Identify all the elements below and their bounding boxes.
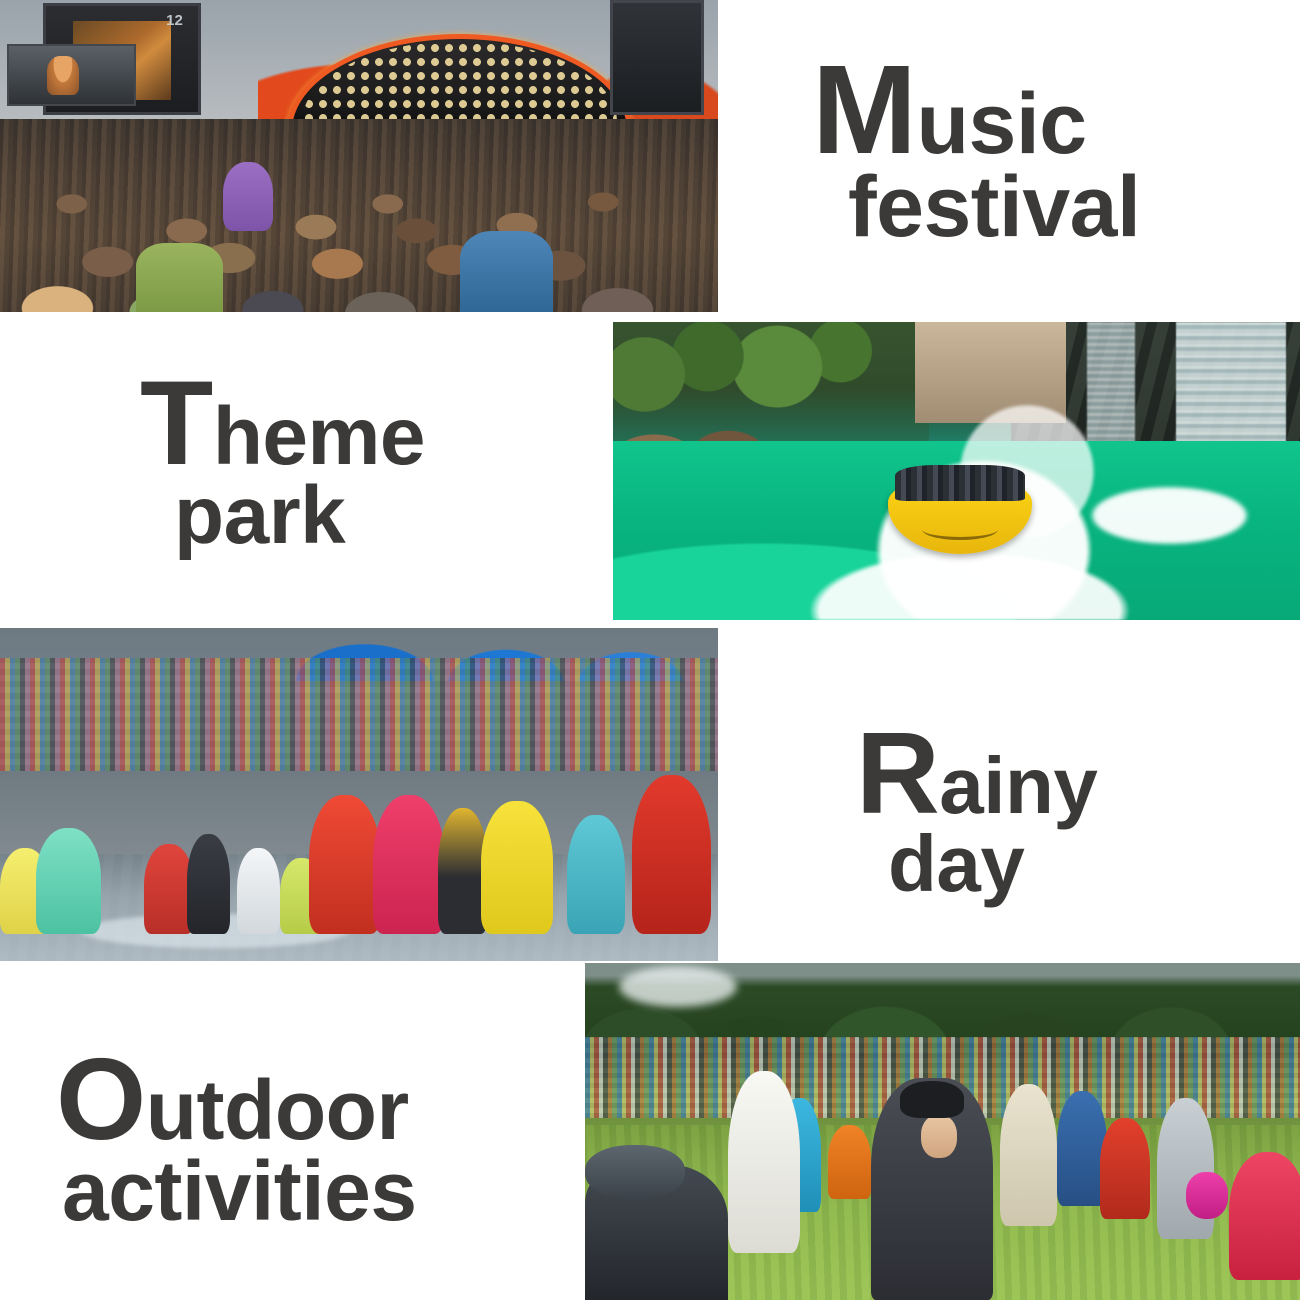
poncho-red-center [309, 795, 381, 935]
caption-line-1: Music [812, 52, 1140, 168]
caption-line-1-rest: ainy [939, 741, 1097, 830]
festival-crowd [0, 119, 718, 312]
image-text-collage: 12 Music festival Theme park [0, 0, 1300, 1300]
outdoor-activities-photo-content [585, 963, 1300, 1300]
poncho-orange-seated [828, 1125, 871, 1199]
music-festival-photo-content: 12 [0, 0, 718, 312]
rainy-day-photo-content [0, 628, 718, 961]
caption-line-1-rest: heme [213, 391, 425, 482]
caption-theme-park: Theme park [140, 368, 425, 554]
person-black-jacket [187, 834, 230, 934]
morning-mist [599, 963, 756, 1010]
caption-line-1-rest: usic [916, 76, 1086, 172]
poncho-teal [567, 815, 624, 935]
poncho-white [728, 1071, 800, 1253]
caption-line-1: Rainy [856, 720, 1097, 827]
caption-line-2: festival [848, 168, 1140, 247]
hiker-cap [900, 1081, 964, 1118]
boat-passengers [895, 465, 1026, 501]
outdoor-activities-photo [585, 963, 1300, 1300]
caption-line-1: Outdoor [56, 1046, 417, 1153]
caption-music-festival: Music festival [812, 52, 1140, 247]
poncho-yellow-center [481, 801, 553, 934]
purple-poncho-person [223, 162, 273, 231]
speaker-tower-right [610, 0, 703, 115]
blue-shirt-person [460, 231, 553, 312]
jacket-red [1100, 1118, 1150, 1219]
poncho-mint [36, 828, 101, 935]
jacket-beige [1000, 1084, 1057, 1226]
poncho-pink-right [1229, 1152, 1300, 1280]
rainy-day-photo [0, 628, 718, 961]
performer-on-screen [47, 56, 80, 95]
person-white-top [237, 848, 280, 935]
green-shirt-person [136, 243, 222, 312]
theme-park-photo-content [613, 322, 1300, 620]
caption-outdoor-activities: Outdoor activities [56, 1046, 417, 1230]
caption-line-2: day [888, 827, 1097, 901]
poncho-red-right [632, 775, 711, 935]
side-video-screen [7, 44, 136, 106]
screen-number-label: 12 [166, 12, 183, 29]
distant-crowd [0, 658, 718, 771]
hiker-face [921, 1115, 957, 1159]
caption-line-2: park [174, 478, 425, 553]
caption-line-1-rest: utdoor [146, 1063, 409, 1157]
boat-smile-decal [922, 519, 998, 540]
bag-magenta [1186, 1172, 1229, 1219]
caption-rainy-day: Rainy day [856, 720, 1097, 900]
poncho-pink [373, 795, 445, 935]
foreground-bucket-hat [585, 1145, 685, 1199]
caption-line-1: Theme [140, 368, 425, 478]
theme-park-photo [613, 322, 1300, 620]
music-festival-photo: 12 [0, 0, 718, 312]
caption-line-2: activities [62, 1153, 417, 1230]
